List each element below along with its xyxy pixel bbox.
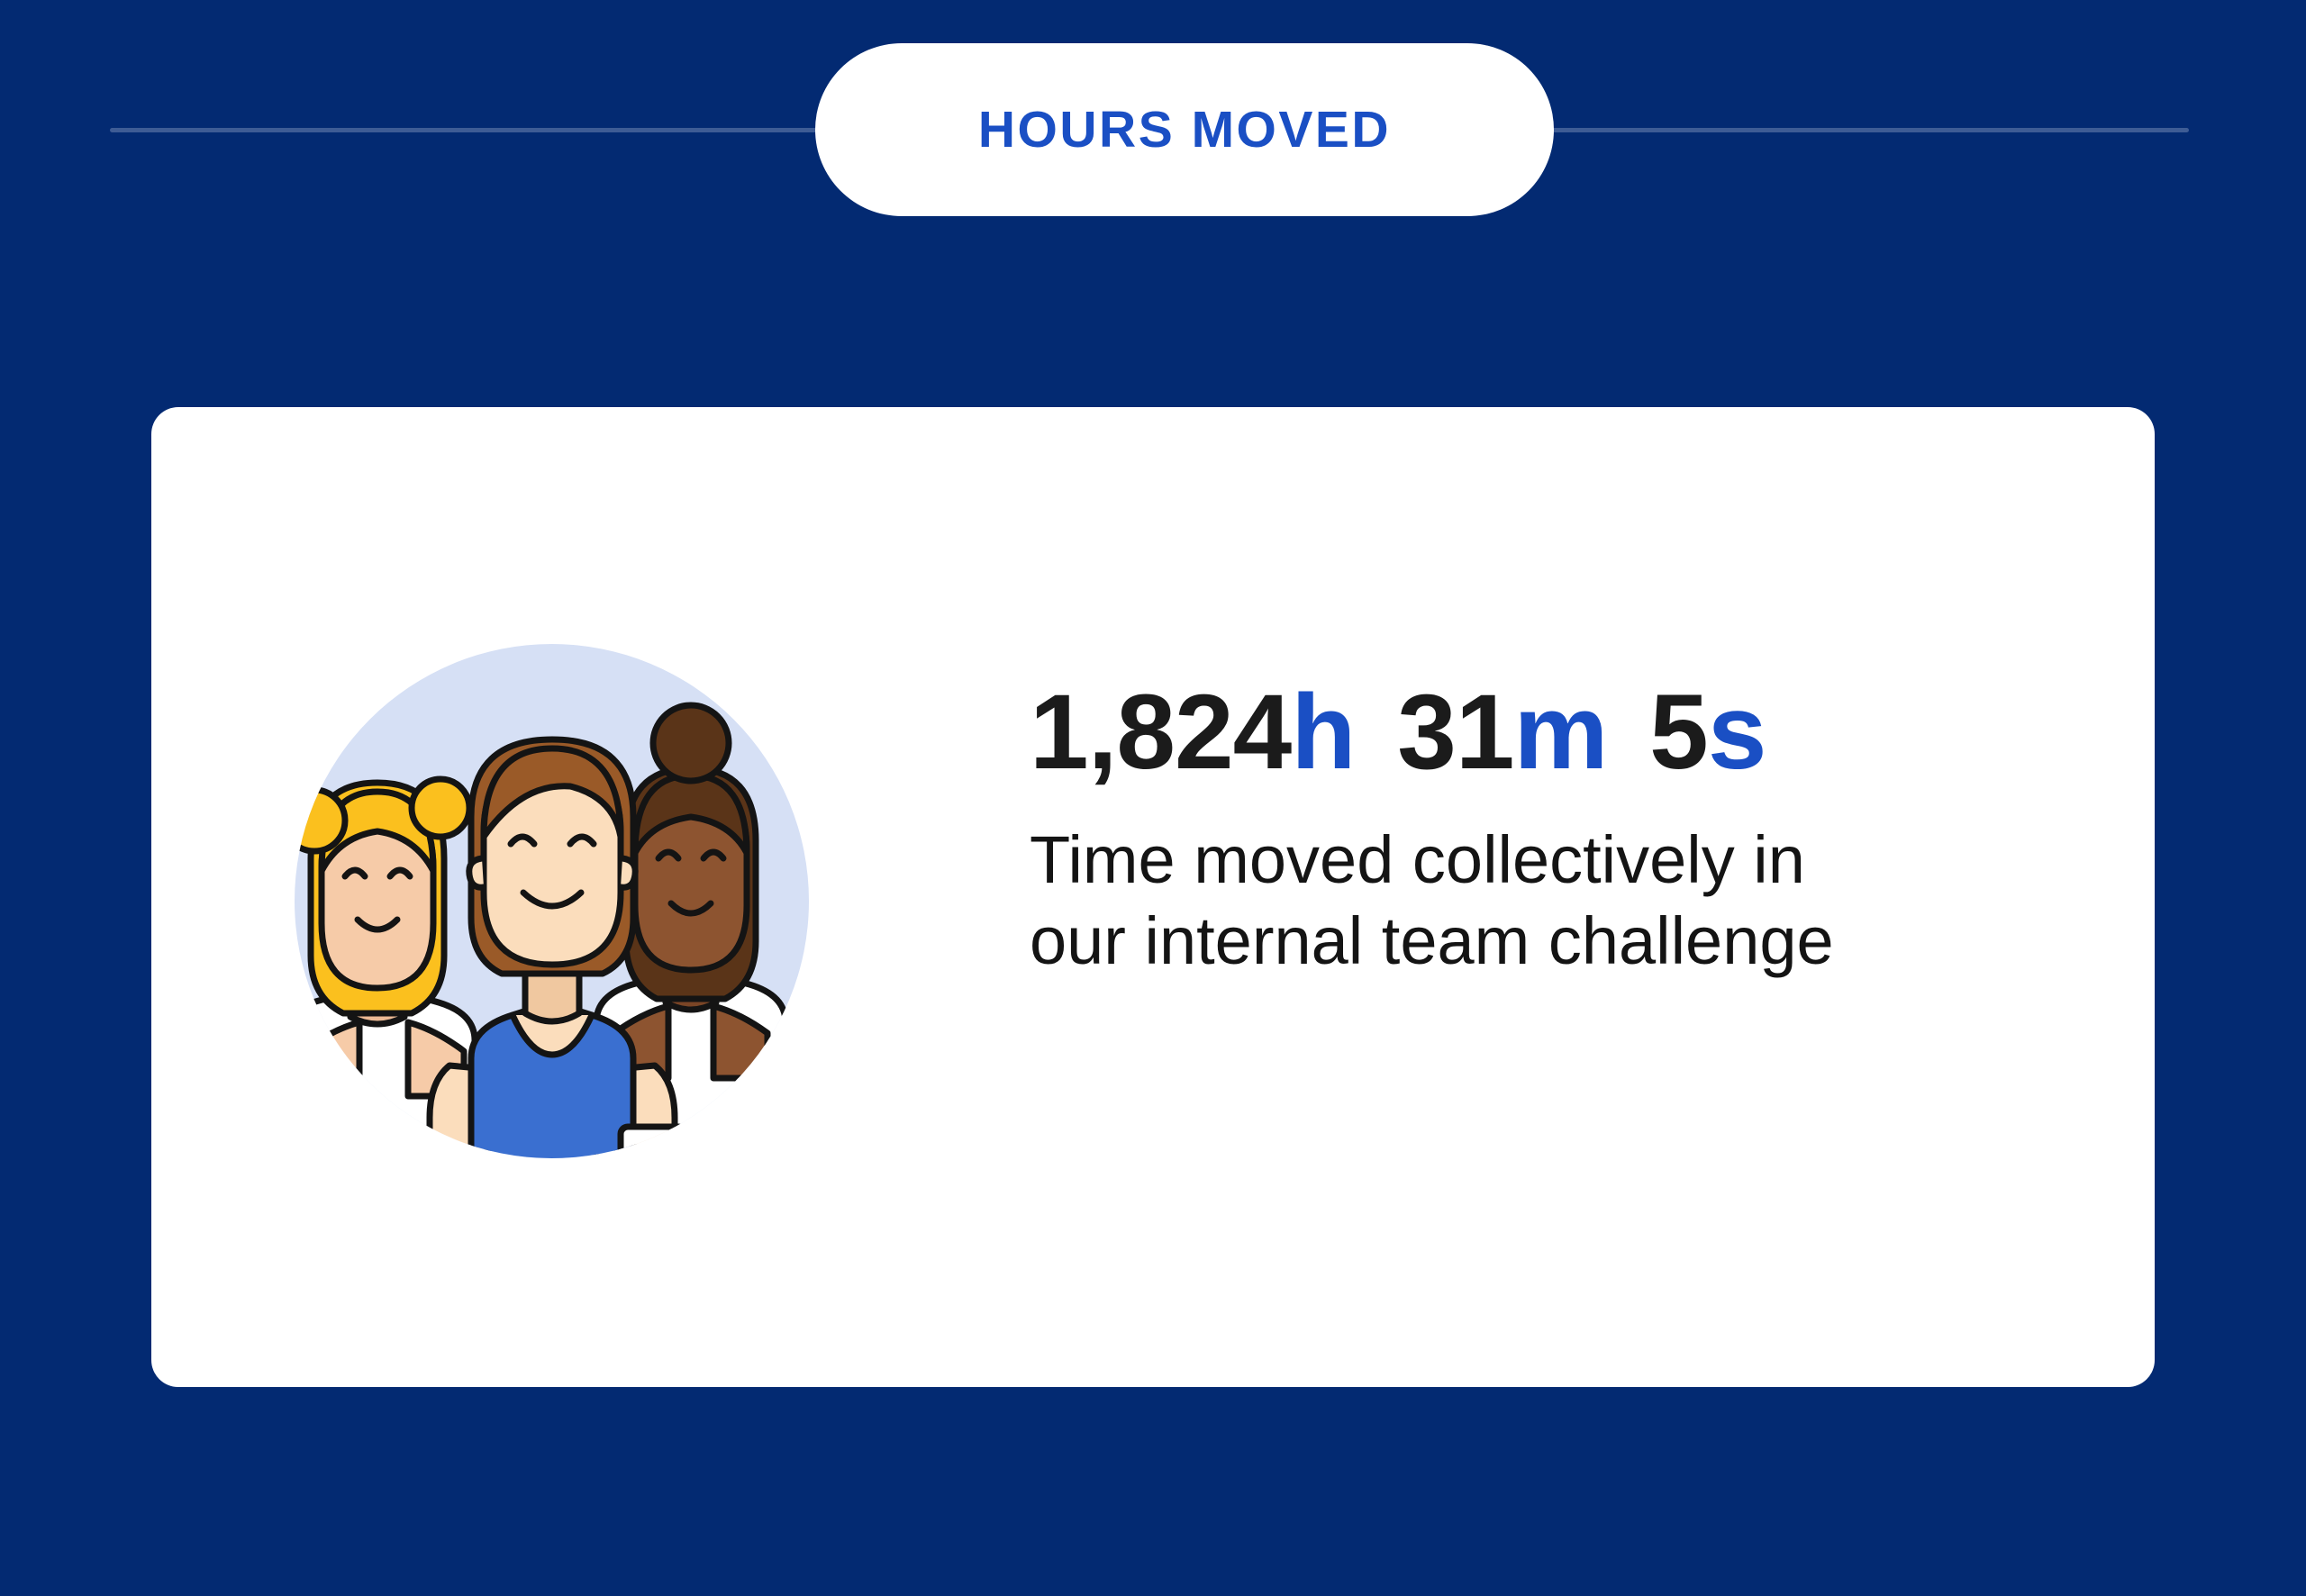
minutes-unit: m [1513,673,1607,792]
header-band: HOURS MOVED [0,0,2306,252]
stat-card: 1,824h 31m 5s Time moved collectively in… [151,407,2155,1387]
value-gap-2 [1607,673,1649,792]
hours-number: 1,824 [1030,673,1291,792]
seconds-number: 5 [1649,673,1708,792]
minutes-number: 31 [1397,673,1513,792]
stat-value: 1,824h 31m 5s [1030,677,1834,789]
stat-text-block: 1,824h 31m 5s Time moved collectively in… [1030,677,1834,982]
seconds-unit: s [1708,673,1766,792]
stat-caption-line-2: our internal team challenge [1030,901,1834,982]
armband-icon [621,1127,685,1158]
value-gap-1 [1355,673,1397,792]
hours-unit: h [1291,673,1355,792]
stat-caption: Time moved collectively in our internal … [1030,820,1834,983]
section-title-label: HOURS MOVED [978,100,1391,159]
stat-caption-line-1: Time moved collectively in [1030,820,1834,901]
section-title-pill[interactable]: HOURS MOVED [815,43,1554,216]
three-people-team-illustration [295,644,809,1158]
team-illustration-svg [295,644,809,1158]
